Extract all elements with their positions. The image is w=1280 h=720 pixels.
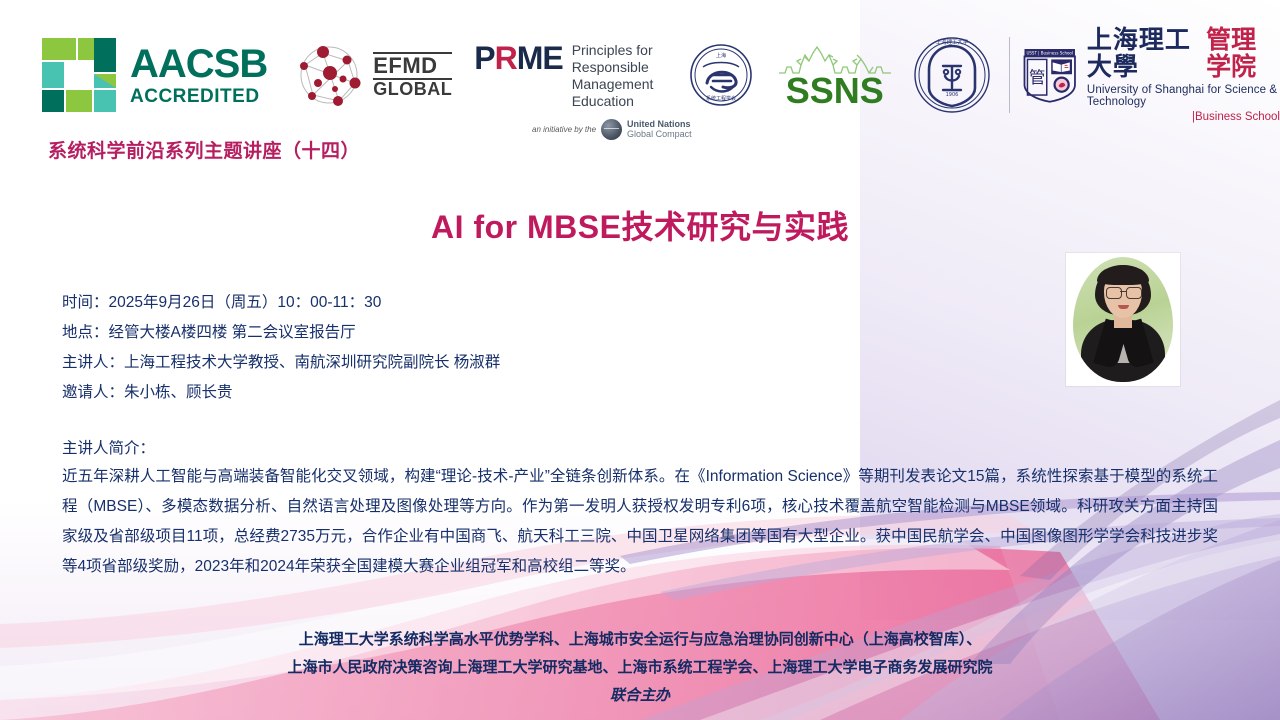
efmd-global-label: GLOBAL — [373, 80, 452, 98]
prme-initiative-label: an initiative by the — [532, 125, 596, 134]
aacsb-accredited-label: ACCREDITED — [130, 87, 267, 106]
event-host-row: 邀请人：朱小栋、顾长贵 — [62, 378, 702, 408]
business-school-cn-university: 上海理工大學 — [1087, 27, 1202, 80]
svg-text:上海理工大学: 上海理工大学 — [936, 38, 969, 46]
page-title: AI for MBSE技术研究与实践 — [0, 202, 1280, 248]
ssns-logo: SSNS — [775, 43, 895, 107]
speaker-portrait — [1066, 253, 1180, 386]
aacsb-mark-icon — [42, 38, 116, 112]
aacsb-logo: AACSB ACCREDITED — [42, 38, 267, 112]
prme-p: P — [474, 40, 494, 76]
usst-seal-icon: 1906 上海理工大学 — [913, 36, 991, 114]
un-global-compact-label: Global Compact — [627, 130, 692, 140]
organizer-line-1: 上海理工大学系统科学高水平优势学科、上海城市安全运行与应急治理协同创新中心（上海… — [0, 626, 1280, 654]
efmd-network-icon — [293, 39, 365, 111]
efmd-global-logo: EFMD GLOBAL — [293, 39, 452, 111]
business-school-cn-unit: 管理学院 — [1206, 27, 1280, 80]
lecture-series-label: 系统科学前沿系列主题讲座（十四） — [48, 136, 360, 163]
ses-seal-icon: 上海 系统工程学会 — [689, 43, 753, 107]
prme-wordmark: PRME — [474, 42, 562, 74]
ssns-wordmark: SSNS — [786, 75, 884, 107]
business-school-en-unit: |Business School — [1087, 111, 1280, 123]
aacsb-name: AACSB — [130, 44, 267, 84]
ses-society-seal-logo: 上海 系统工程学会 — [689, 43, 753, 107]
prme-me: ME — [517, 40, 563, 76]
portrait-fringe — [1097, 265, 1149, 285]
portrait-glasses-left — [1106, 287, 1122, 299]
co-organized-label: 联合主办 — [0, 682, 1280, 710]
portrait-glasses-right — [1126, 287, 1142, 299]
usst-university-seal-logo: 1906 上海理工大学 — [913, 36, 991, 114]
logo-divider — [1009, 37, 1010, 113]
un-global-compact-block: an initiative by the United Nations Glob… — [470, 119, 692, 140]
accreditation-logo-row: AACSB ACCREDITED — [0, 26, 1280, 124]
organizers-footer: 上海理工大学系统科学高水平优势学科、上海城市安全运行与应急治理协同创新中心（上海… — [0, 626, 1280, 710]
business-school-en-university: University of Shanghai for Science & Tec… — [1087, 84, 1280, 108]
usst-business-school-logo: USST | Business School 管 上海理工大學 管理学院 Uni… — [1023, 27, 1280, 123]
prme-r: R — [495, 40, 517, 76]
event-time-row: 时间：2025年9月26日（周五）10：00-11：30 — [62, 288, 702, 318]
lecture-poster: AACSB ACCREDITED — [0, 0, 1280, 720]
business-school-shield-icon: USST | Business School 管 — [1023, 38, 1076, 112]
prme-tagline-line2: Management Education — [572, 76, 669, 110]
svg-text:USST | Business School: USST | Business School — [1027, 51, 1074, 56]
svg-text:上海: 上海 — [716, 52, 726, 59]
event-venue-row: 地点：经管大楼A楼四楼 第二会议室报告厅 — [62, 318, 702, 348]
event-speaker-row: 主讲人：上海工程技术大学教授、南航深圳研究院副院长 杨淑群 — [62, 348, 702, 378]
prme-logo: PRME Principles for Responsible Manageme… — [474, 40, 668, 110]
event-info-block: 时间：2025年9月26日（周五）10：00-11：30 地点：经管大楼A楼四楼… — [62, 288, 702, 408]
usst-seal-year: 1906 — [945, 92, 958, 98]
speaker-bio-body: 近五年深耕人工智能与高端装备智能化交叉领域，构建“理论-技术-产业”全链条创新体… — [62, 462, 1218, 582]
efmd-name: EFMD — [373, 52, 452, 80]
portrait-photo — [1073, 257, 1173, 382]
prme-tagline-line1: Principles for Responsible — [572, 42, 669, 76]
svg-text:系统工程学会: 系统工程学会 — [706, 95, 736, 102]
united-nations-globe-icon — [601, 119, 622, 140]
speaker-bio-heading: 主讲人简介： — [62, 436, 155, 458]
portrait-glasses-bridge — [1120, 291, 1126, 292]
organizer-line-2: 上海市人民政府决策咨询上海理工大学研究基地、上海市系统工程学会、上海理工大学电子… — [0, 654, 1280, 682]
svg-text:管: 管 — [1029, 68, 1045, 87]
